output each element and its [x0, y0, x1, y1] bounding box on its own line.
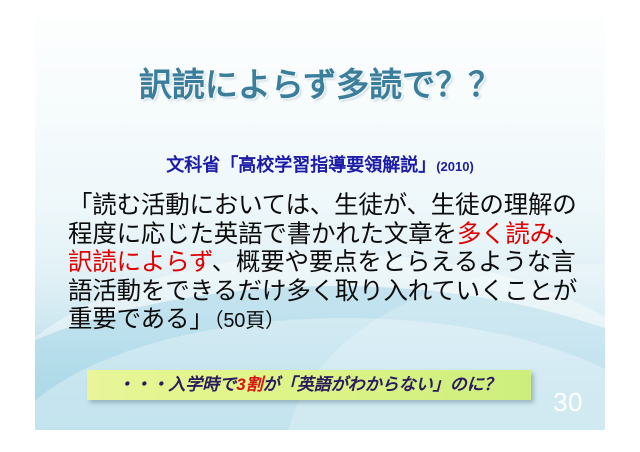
- quote-page-reference: （50頁）: [214, 310, 285, 332]
- source-citation-text: 文科省「高校学習指導要領解説」: [166, 155, 436, 175]
- quote-segment-2-emphasis: 多く読み: [457, 221, 554, 248]
- source-citation: 文科省「高校学習指導要領解説」(2010): [35, 156, 605, 174]
- slide-content: 訳読によらず多読で？？ 文科省「高校学習指導要領解説」(2010) 「読む活動に…: [35, 18, 605, 430]
- page-number: 30: [553, 387, 583, 418]
- source-citation-year: (2010): [436, 159, 474, 174]
- callout-highlight: 3割: [236, 375, 262, 394]
- callout-prefix: ・・・入学時で: [117, 375, 236, 394]
- quote-segment-4-emphasis: 訳読によらず: [68, 249, 212, 276]
- callout-suffix: が「英語がわからない」のに？: [263, 375, 501, 394]
- slide-canvas: 訳読によらず多読で？？ 文科省「高校学習指導要領解説」(2010) 「読む活動に…: [35, 18, 605, 430]
- slide-title: 訳読によらず多読で？？: [35, 58, 605, 106]
- quotation-block: 「読む活動においては、生徒が、生徒の理解の程度に応じた英語で書かれた文章を多く読…: [68, 192, 588, 336]
- quote-segment-3: 、: [554, 221, 578, 248]
- callout-banner: ・・・入学時で3割が「英語がわからない」のに？: [87, 370, 531, 400]
